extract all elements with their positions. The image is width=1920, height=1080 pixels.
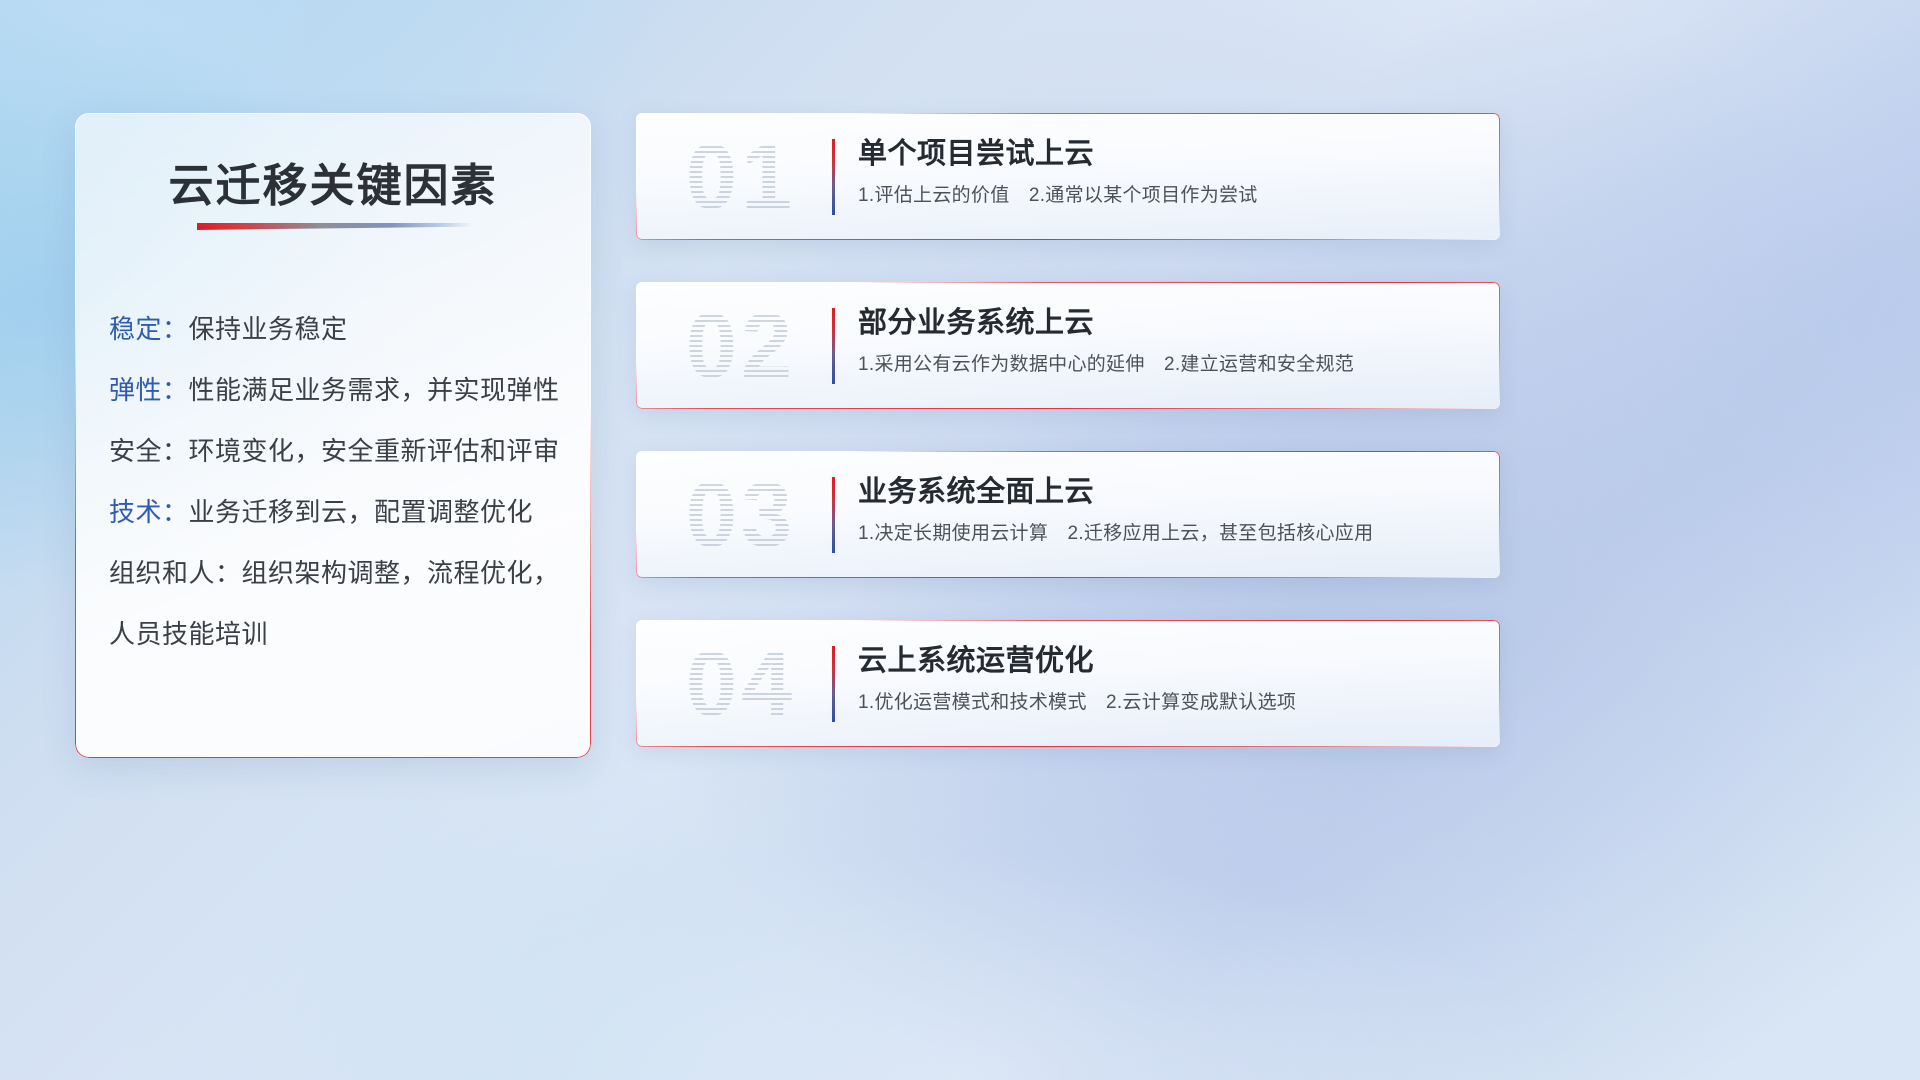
list-item: 安全：环境变化，安全重新评估和评审 (109, 421, 567, 482)
factor-text: 保持业务稳定 (189, 314, 348, 344)
stage-description: 1.决定长期使用云计算 2.迁移应用上云，甚至包括核心应用 (858, 517, 1482, 551)
list-item: 稳定：保持业务稳定 (109, 299, 567, 360)
factor-text: 人员技能培训 (109, 619, 268, 649)
stage-description: 1.评估上云的价值 2.通常以某个项目作为尝试 (858, 179, 1482, 213)
factor-text: 性能满足业务需求，并实现弹性 (189, 375, 560, 405)
stage-card-03: 03 业务系统全面上云 1.决定长期使用云计算 2.迁移应用上云，甚至包括核心应… (636, 451, 1500, 578)
stage-card-content: 部分业务系统上云 1.采用公有云作为数据中心的延伸 2.建立运营和安全规范 (858, 302, 1482, 382)
page-title: 云迁移关键因素 (75, 149, 591, 214)
list-item: 弹性：性能满足业务需求，并实现弹性 (109, 360, 567, 421)
factor-label: 组织和人： (109, 558, 242, 588)
stage-number-watermark: 02 (666, 290, 816, 402)
stage-description: 1.采用公有云作为数据中心的延伸 2.建立运营和安全规范 (858, 348, 1482, 382)
accent-divider-bar (832, 139, 835, 215)
factor-text: 业务迁移到云，配置调整优化 (189, 497, 534, 527)
factor-label: 稳定： (109, 314, 189, 344)
accent-divider-bar (832, 477, 835, 553)
stage-title: 单个项目尝试上云 (858, 133, 1482, 175)
stage-card-content: 业务系统全面上云 1.决定长期使用云计算 2.迁移应用上云，甚至包括核心应用 (858, 471, 1482, 551)
stage-card-01: 01 单个项目尝试上云 1.评估上云的价值 2.通常以某个项目作为尝试 (636, 113, 1500, 240)
stage-description: 1.优化运营模式和技术模式 2.云计算变成默认选项 (858, 686, 1482, 720)
factor-label: 技术： (109, 497, 189, 527)
accent-divider-bar (832, 308, 835, 384)
title-underline-accent (197, 223, 473, 230)
stage-card-content: 单个项目尝试上云 1.评估上云的价值 2.通常以某个项目作为尝试 (858, 133, 1482, 213)
key-factors-panel: 云迁移关键因素 稳定：保持业务稳定 弹性：性能满足业务需求，并实现弹性 安全：环… (75, 113, 591, 758)
stage-number-watermark: 04 (666, 628, 816, 740)
list-item: 组织和人：组织架构调整，流程优化， (109, 543, 567, 604)
stage-number-watermark: 03 (666, 459, 816, 571)
stage-title: 业务系统全面上云 (858, 471, 1482, 513)
list-item: 技术：业务迁移到云，配置调整优化 (109, 482, 567, 543)
key-factors-list: 稳定：保持业务稳定 弹性：性能满足业务需求，并实现弹性 安全：环境变化，安全重新… (109, 299, 567, 665)
factor-label: 安全： (109, 436, 189, 466)
stage-card-04: 04 云上系统运营优化 1.优化运营模式和技术模式 2.云计算变成默认选项 (636, 620, 1500, 747)
stage-card-content: 云上系统运营优化 1.优化运营模式和技术模式 2.云计算变成默认选项 (858, 640, 1482, 720)
stage-title: 部分业务系统上云 (858, 302, 1482, 344)
stage-card-02: 02 部分业务系统上云 1.采用公有云作为数据中心的延伸 2.建立运营和安全规范 (636, 282, 1500, 409)
factor-text: 组织架构调整，流程优化， (242, 558, 560, 588)
stage-title: 云上系统运营优化 (858, 640, 1482, 682)
factor-label: 弹性： (109, 375, 189, 405)
list-item: 人员技能培训 (109, 604, 567, 665)
accent-divider-bar (832, 646, 835, 722)
stage-card-list: 01 单个项目尝试上云 1.评估上云的价值 2.通常以某个项目作为尝试 02 部… (636, 113, 1500, 789)
stage-number-watermark: 01 (666, 121, 816, 233)
factor-text: 环境变化，安全重新评估和评审 (189, 436, 560, 466)
